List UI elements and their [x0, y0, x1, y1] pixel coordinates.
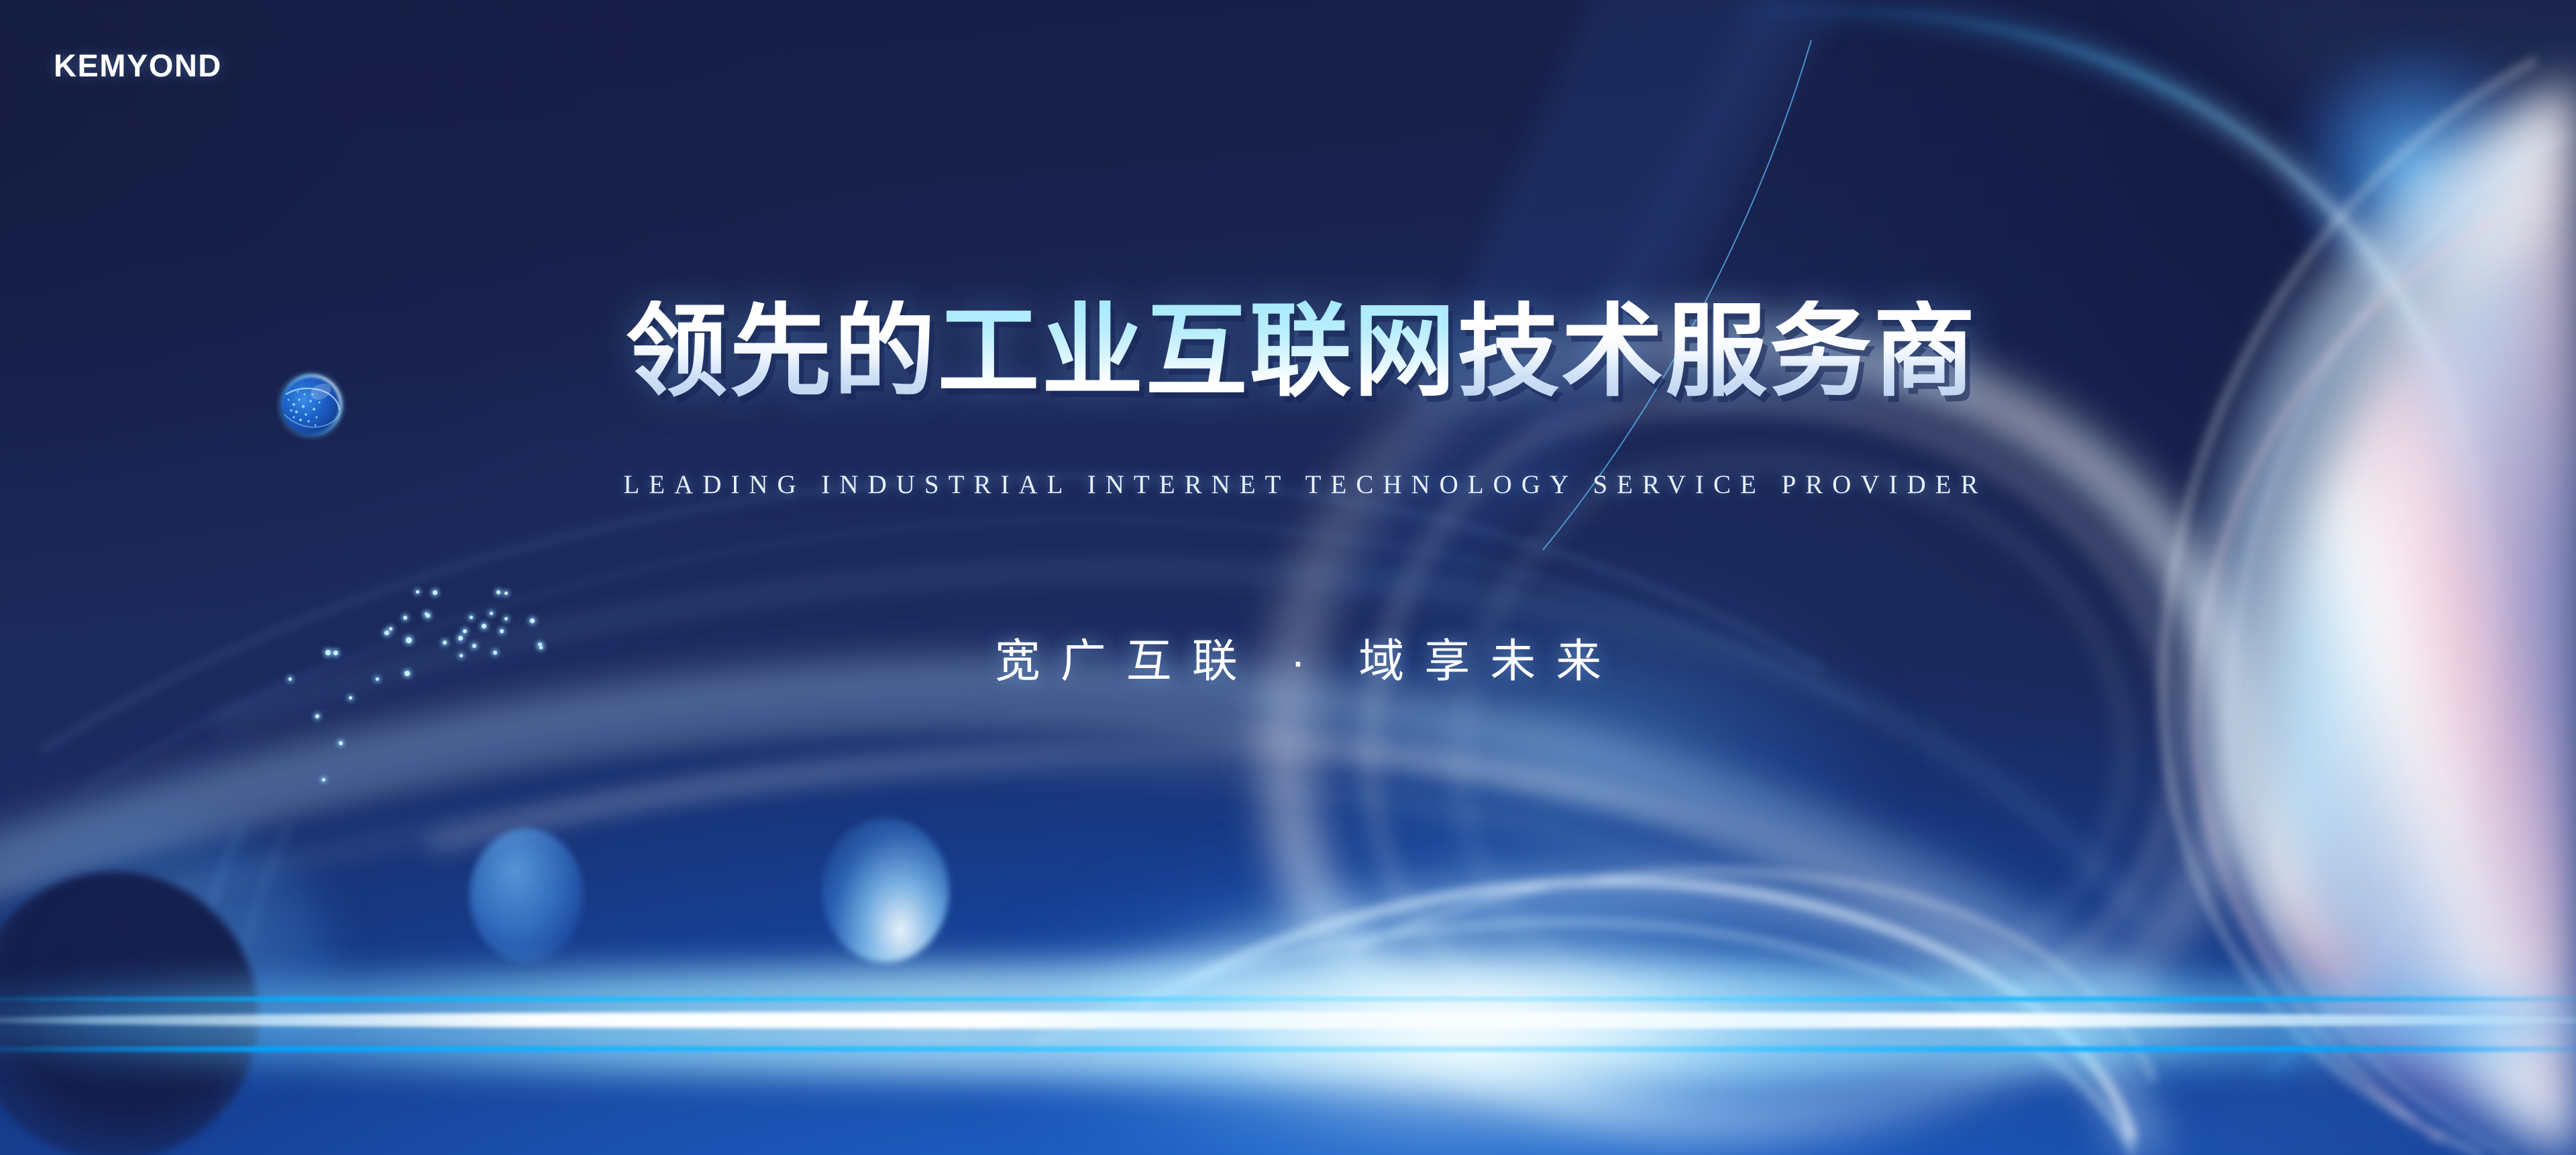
promo-banner: KEMYOND 领先的工业互联网技术服务商 LEADING INDUSTRIAL…: [0, 0, 2576, 1155]
page-title: 领先的工业互联网技术服务商: [0, 300, 2576, 402]
headline-part-service-provider: 技术服务商: [1458, 300, 1978, 402]
headline-part-industrial-internet: 工业互联网: [938, 300, 1458, 402]
brand-logo[interactable]: KEMYOND: [54, 47, 222, 84]
page-tagline: 宽广互联 · 域享未来: [0, 624, 2576, 690]
headline-part-leading: 领先的: [626, 300, 938, 402]
text-content-layer: KEMYOND 领先的工业互联网技术服务商 LEADING INDUSTRIAL…: [0, 0, 2576, 1155]
page-subtitle: LEADING INDUSTRIAL INTERNET TECHNOLOGY S…: [0, 470, 2576, 500]
